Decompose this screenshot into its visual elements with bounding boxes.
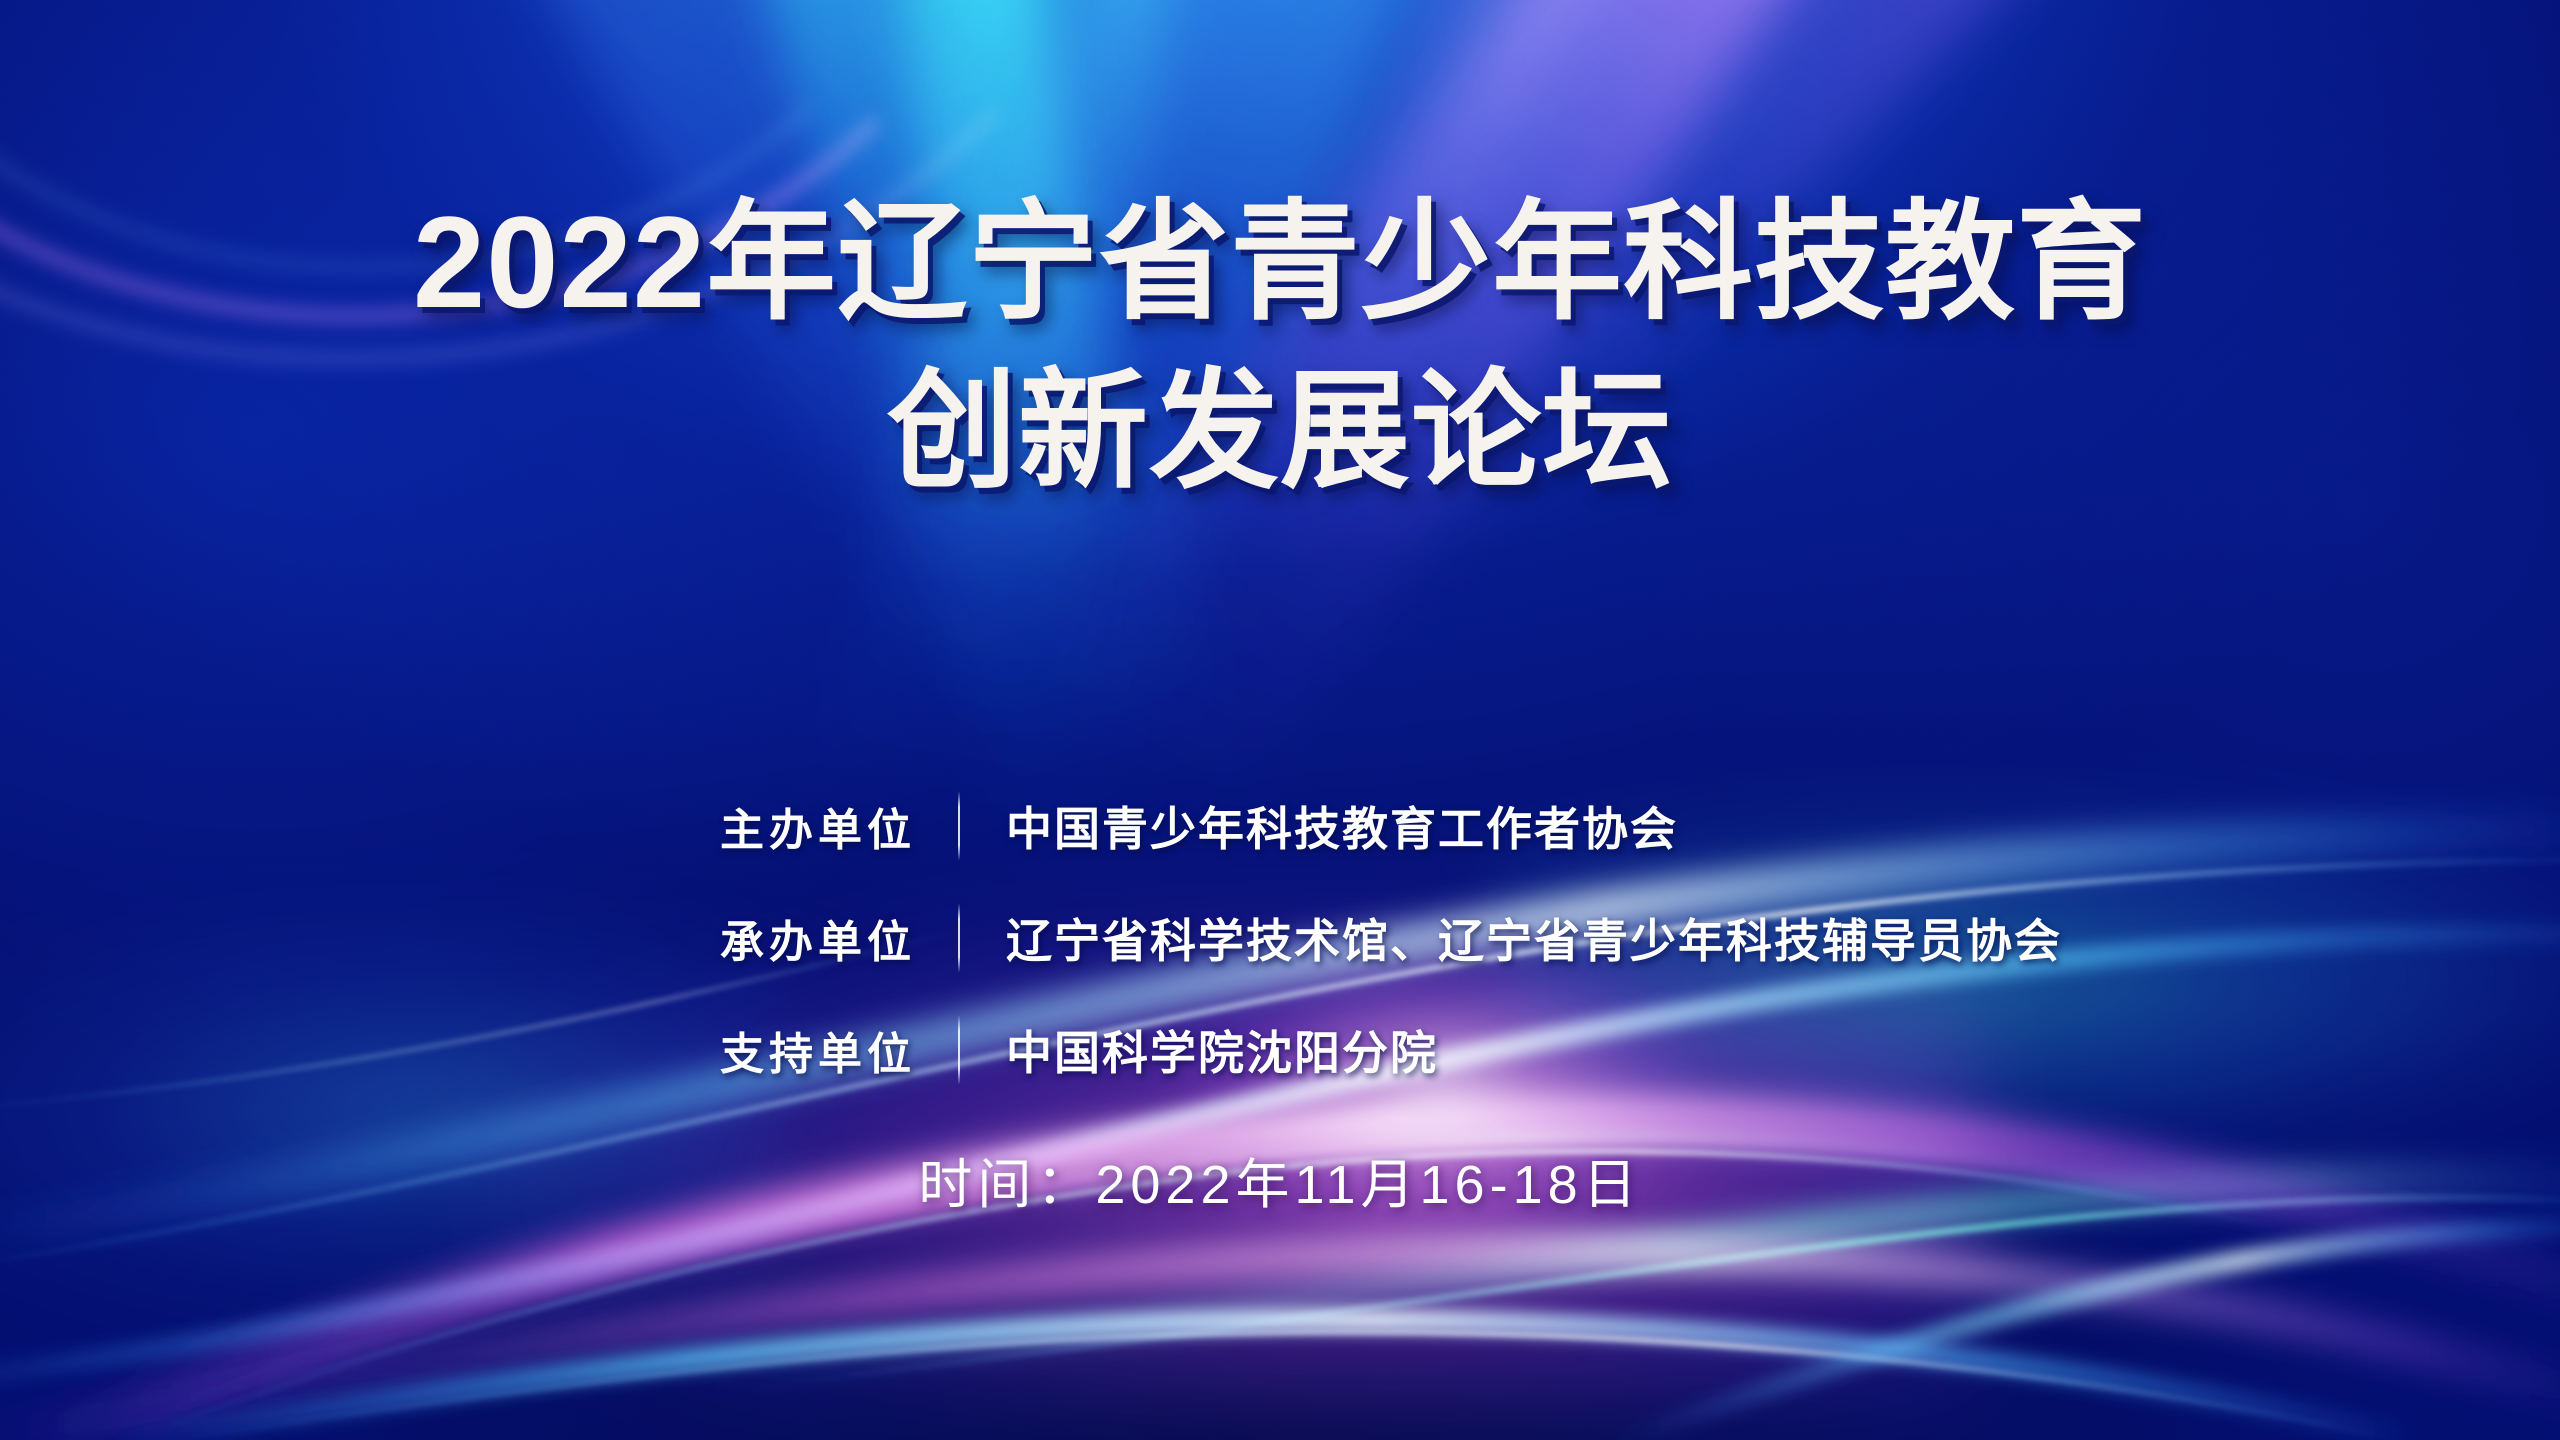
organizer-label-supporter: 支持单位 [0, 1018, 958, 1082]
organizer-value-supporter: 中国科学院沈阳分院 [960, 1017, 1438, 1083]
event-date-line: 时间：2022年11月16-18日 [0, 1140, 2560, 1219]
event-date-text: 时间：2022年11月16-18日 [918, 1155, 1641, 1215]
event-poster: 2022年辽宁省青少年科技教育 创新发展论坛 主办单位 中国青少年科技教育工作者… [0, 0, 2560, 1440]
poster-title: 2022年辽宁省青少年科技教育 创新发展论坛 [0, 178, 2560, 516]
organizer-value-organizer: 辽宁省科学技术馆、辽宁省青少年科技辅导员协会 [960, 905, 2062, 971]
organizer-list: 主办单位 中国青少年科技教育工作者协会 承办单位 辽宁省科学技术馆、辽宁省青少年… [0, 770, 2560, 1106]
organizer-label-organizer: 承办单位 [0, 906, 958, 970]
poster-content: 2022年辽宁省青少年科技教育 创新发展论坛 主办单位 中国青少年科技教育工作者… [0, 0, 2560, 1440]
organizer-value-host: 中国青少年科技教育工作者协会 [960, 793, 1678, 859]
title-line-2: 创新发展论坛 [0, 347, 2560, 516]
title-line-1: 2022年辽宁省青少年科技教育 [0, 178, 2560, 347]
organizer-label-host: 主办单位 [0, 794, 958, 858]
organizer-row-supporter: 支持单位 中国科学院沈阳分院 [0, 994, 2560, 1106]
organizer-row-organizer: 承办单位 辽宁省科学技术馆、辽宁省青少年科技辅导员协会 [0, 882, 2560, 994]
organizer-row-host: 主办单位 中国青少年科技教育工作者协会 [0, 770, 2560, 882]
